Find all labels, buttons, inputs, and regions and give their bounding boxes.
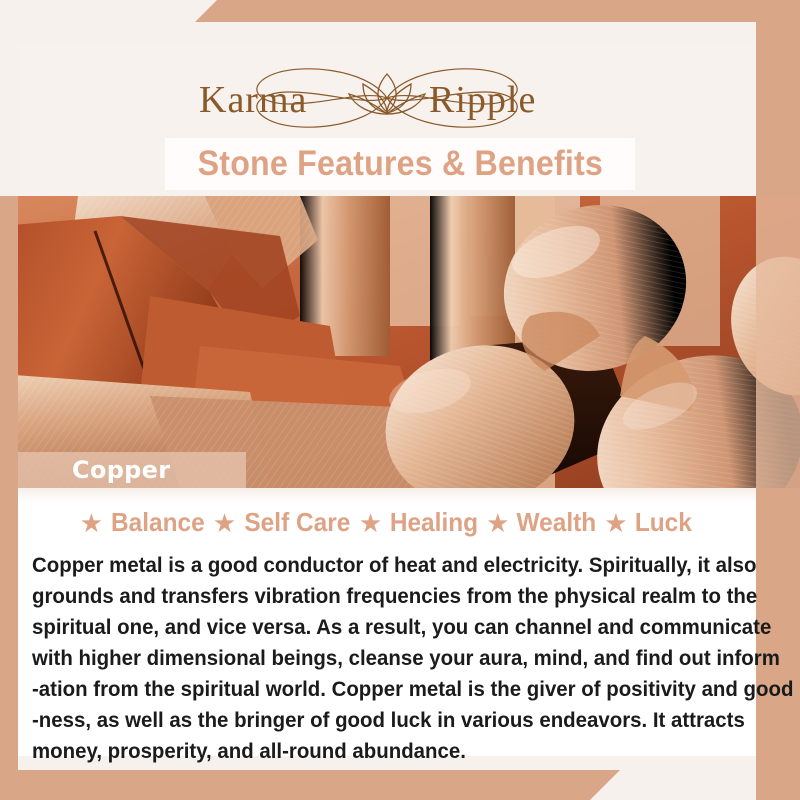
logo-artwork: Karma Ripple (177, 52, 597, 144)
star-icon: ★ (78, 510, 105, 536)
star-icon: ★ (602, 510, 629, 536)
stone-name-text: Copper (72, 456, 170, 484)
stone-name-label: Copper (0, 452, 246, 488)
benefit-item-luck: Luck (632, 507, 695, 538)
decorative-top-bar (195, 0, 800, 22)
content-top-fade (18, 488, 756, 502)
brand-name-left: Karma (199, 79, 307, 121)
page-title: Stone Features & Benefits (197, 144, 602, 184)
brand-name-right: Ripple (429, 79, 536, 121)
benefits-list: ★ Balance ★ Self Care ★ Healing ★ Wealth… (18, 507, 756, 538)
copper-rods-photo (0, 196, 800, 488)
photo-right-frame-overlay (756, 196, 800, 488)
stone-description: Copper metal is a good conductor of heat… (32, 550, 708, 767)
decorative-left-band (0, 196, 18, 800)
description-line: -ation from the spiritual world. Copper … (32, 674, 708, 705)
star-icon: ★ (357, 510, 384, 536)
description-line: -ness, as well as the bringer of good lu… (32, 705, 708, 736)
description-line: money, prosperity, and all-round abundan… (32, 736, 708, 767)
description-line: spiritual one, and vice versa. As a resu… (32, 612, 708, 643)
description-line: Copper metal is a good conductor of heat… (32, 550, 708, 581)
content-panel: ★ Balance ★ Self Care ★ Healing ★ Wealth… (18, 488, 756, 756)
star-icon: ★ (211, 510, 238, 536)
description-line: grounds and transfers vibration frequenc… (32, 581, 708, 612)
lotus-flower-icon (349, 74, 425, 114)
benefit-item-self-care: Self Care (242, 507, 354, 538)
benefit-item-wealth: Wealth (514, 507, 599, 538)
brand-logo: Karma Ripple (18, 52, 756, 144)
description-line: with higher dimensional beings, cleanse … (32, 643, 708, 674)
decorative-bottom-bar (0, 770, 620, 800)
benefit-item-balance: Balance (108, 507, 207, 538)
infographic-page: Karma Ripple Stone Features & Benefits (0, 0, 800, 800)
star-icon: ★ (484, 510, 511, 536)
benefit-item-healing: Healing (387, 507, 481, 538)
section-title-banner: Stone Features & Benefits (165, 138, 635, 190)
